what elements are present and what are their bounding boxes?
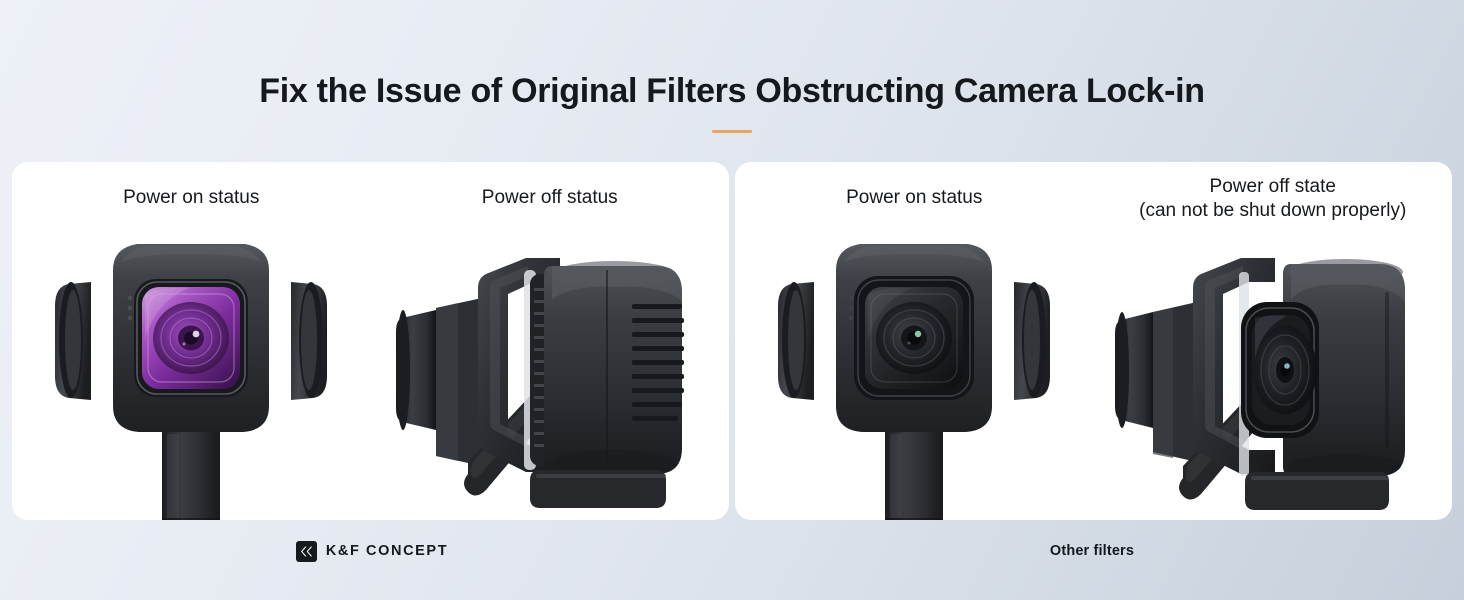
camera-drum-body: [544, 266, 682, 474]
heatsink-fins: [632, 304, 684, 421]
other-filters-label: Other filters: [1050, 543, 1134, 559]
gimbal-camera-front-purple-filter-icon: [41, 222, 341, 520]
other-filters-panel-inner: Power on status Power off state (can not…: [735, 162, 1452, 520]
label-power-on-kf: Power on status: [12, 162, 371, 210]
kf-camera-stage: [12, 222, 729, 520]
label-power-off-kf: Power off status: [371, 162, 730, 210]
kf-concept-panel: Power on status Power off status: [12, 162, 729, 520]
camera-slot-power-off-kf: [371, 222, 730, 520]
kf-brand-label: K&F CONCEPT: [326, 543, 448, 559]
comparison-panels: Power on status Power off status: [12, 162, 1452, 520]
camera-slot-power-on-kf: [12, 222, 371, 520]
gimbal-camera-side-obstructed-icon: [1113, 222, 1433, 520]
kf-brand-footer: K&F CONCEPT: [12, 526, 732, 576]
title-divider: [712, 130, 752, 133]
other-panel-labels: Power on status Power off state (can not…: [735, 162, 1452, 223]
label-power-on-other: Power on status: [735, 162, 1094, 223]
page-header: Fix the Issue of Original Filters Obstru…: [0, 0, 1464, 162]
page-title: Fix the Issue of Original Filters Obstru…: [259, 74, 1205, 108]
label-power-off-other: Power off state (can not be shut down pr…: [1094, 162, 1453, 223]
other-filters-panel: Power on status Power off state (can not…: [735, 162, 1452, 520]
kf-chevron-logo-icon: [296, 541, 317, 562]
kf-concept-panel-inner: Power on status Power off status: [12, 162, 729, 520]
other-camera-stage: [735, 222, 1452, 520]
kf-panel-labels: Power on status Power off status: [12, 162, 729, 210]
camera-slot-power-off-other: [1094, 222, 1453, 520]
gimbal-camera-front-dark-filter-icon: [764, 222, 1064, 520]
panel-footers: K&F CONCEPT Other filters: [12, 526, 1452, 576]
camera-slot-power-on-other: [735, 222, 1094, 520]
gimbal-camera-side-locked-icon: [390, 222, 710, 520]
other-filters-footer: Other filters: [732, 526, 1452, 576]
